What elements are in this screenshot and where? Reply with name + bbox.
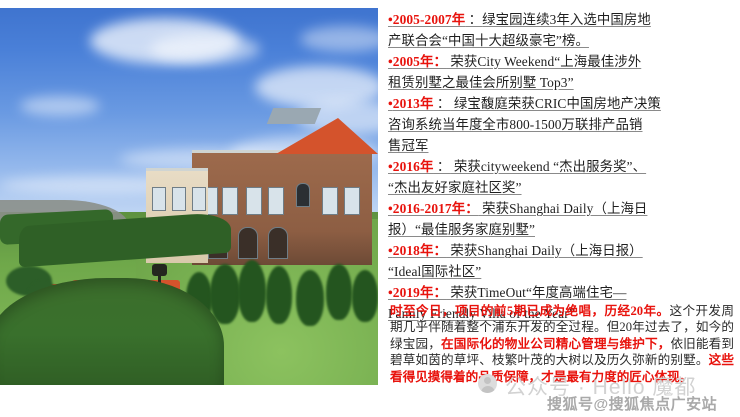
award-year: 2016年 [393,159,434,174]
roof-ridge [267,108,321,124]
award-line: 报）“最佳服务家庭别墅” [388,219,740,240]
window [268,187,284,215]
award-text: 荣获cityweekend “杰出服务奖”、 [450,159,646,174]
window [152,187,166,211]
award-line: 产联合会“中国十大超级豪宅”榜。 [388,30,740,51]
award-line: •2018年： 荣获Shanghai Daily（上海日报） [388,240,740,261]
closing-emphasis: 时至今日，项目的前5期已成为绝唱，历经20年。 [390,304,669,318]
award-line: •2016-2017年： 荣获Shanghai Daily（上海日 [388,198,740,219]
award-text: 荣获City Weekend“上海最佳涉外 [447,54,641,69]
window [192,187,206,211]
arch-opening [268,227,288,259]
award-line: “Ideal国际社区” [388,261,740,282]
tree [296,270,324,326]
award-year: 2018年： [393,243,447,258]
award-line: •2016年 ： 荣获cityweekend “杰出服务奖”、 [388,156,740,177]
award-text-panel: •2005-2007年 ：绿宝园连续3年入选中国房地产联合会“中国十大超级豪宅”… [386,0,740,417]
tree [266,266,292,324]
award-separator: ： [465,12,482,27]
award-text: 租赁别墅之最佳会所别墅 Top3” [388,75,574,90]
window [222,187,238,215]
award-year: 2005年： [393,54,447,69]
tree [210,264,240,324]
window [296,183,310,207]
award-line: •2019年： 荣获TimeOut“年度高端住宅— [388,282,740,303]
award-text: “Ideal国际社区” [388,264,481,279]
cloud-shape [150,34,260,64]
award-line: •2013年 ： 绿宝馥庭荣获CRIC中国房地产决策 [388,93,740,114]
award-text: 荣获Shanghai Daily（上海日 [479,201,648,216]
award-line: 咨询系统当年度全市800-1500万联排产品销 [388,114,740,135]
award-year: 2019年： [393,285,447,300]
window [322,187,338,215]
closing-emphasis: 在国际化的物业公司精心管理与维护下， [441,337,670,351]
award-line: 租赁别墅之最佳会所别墅 Top3” [388,72,740,93]
award-text: 咨询系统当年度全市800-1500万联排产品销 [388,117,643,132]
award-line: “杰出友好家庭社区奖” [388,177,740,198]
award-text: 绿宝馥庭荣获CRIC中国房地产决策 [450,96,660,111]
tree [238,260,266,322]
arch-opening [238,227,258,259]
property-photo [0,8,378,385]
award-year: 2005-2007年 [393,12,465,27]
street-lamp-head [152,264,167,276]
award-text: 产联合会“中国十大超级豪宅”榜。 [388,33,589,48]
window [172,187,186,211]
award-separator: ： [433,159,450,174]
award-year: 2013年 [393,96,434,111]
award-line: •2005-2007年 ：绿宝园连续3年入选中国房地 [388,9,740,30]
window [246,187,262,215]
award-year: 2016-2017年： [393,201,479,216]
award-text: 报）“最佳服务家庭别墅” [388,222,535,237]
award-text: 荣获TimeOut“年度高端住宅— [447,285,626,300]
tree [352,270,378,322]
cloud-shape [20,96,100,116]
window [344,187,360,215]
source-watermark: 搜狐号@搜狐焦点广安站 [547,393,717,414]
award-separator: ： [433,96,450,111]
award-text: 荣获Shanghai Daily（上海日报） [447,243,643,258]
award-text: 售冠军 [388,138,428,153]
awards-list: •2005-2007年 ：绿宝园连续3年入选中国房地产联合会“中国十大超级豪宅”… [388,9,740,324]
avatar [478,374,497,393]
award-text: “杰出友好家庭社区奖” [388,180,522,195]
award-text: 绿宝园连续3年入选中国房地 [482,12,651,27]
award-line: •2005年： 荣获City Weekend“上海最佳涉外 [388,51,740,72]
award-line: 售冠军 [388,135,740,156]
tree [326,264,352,320]
